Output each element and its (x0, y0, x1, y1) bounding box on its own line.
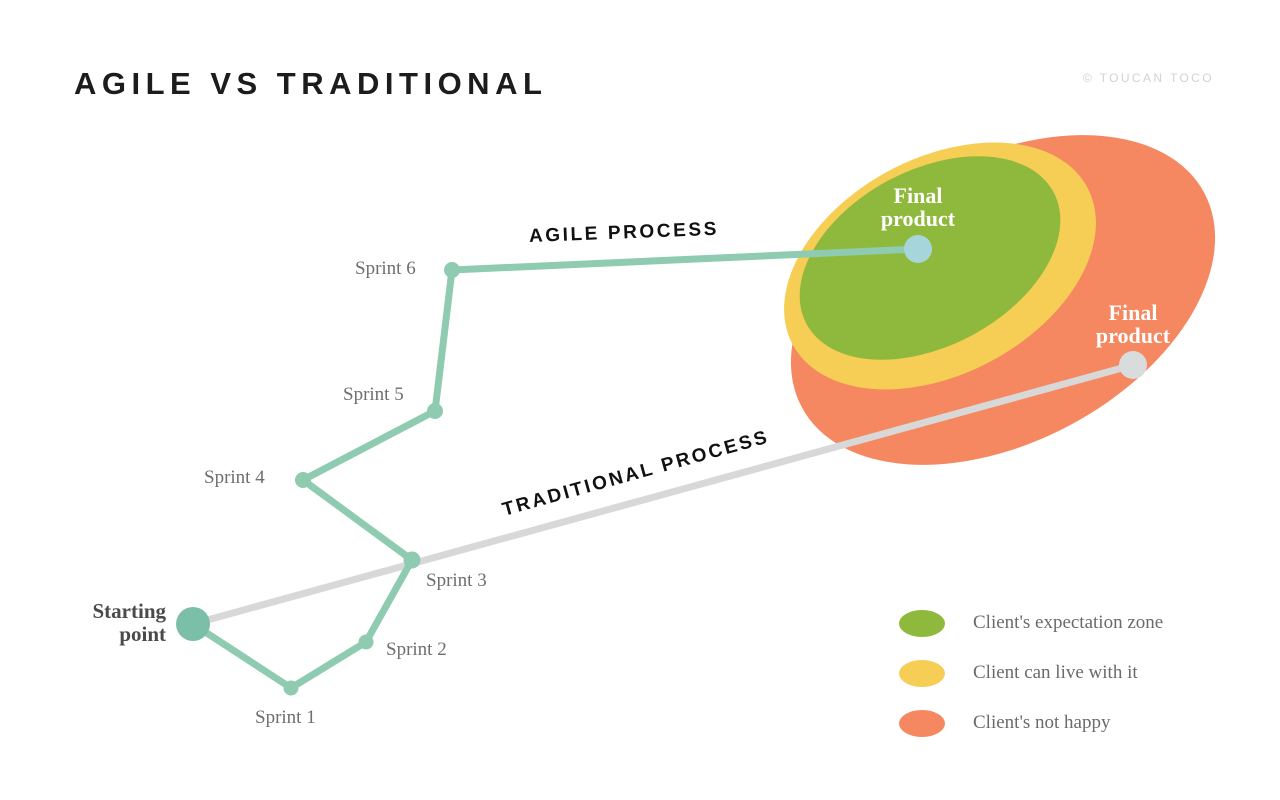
satisfaction-zones (735, 68, 1271, 533)
legend-item-expectation[interactable]: Client's expectation zone (899, 598, 1229, 648)
sprint-label-4: Sprint 4 (204, 467, 265, 489)
agile-final-product-dot[interactable] (904, 235, 932, 263)
traditional-process-line (193, 365, 1133, 624)
sprint-label-3: Sprint 3 (426, 570, 487, 592)
starting-point-label: Starting point (36, 600, 166, 646)
agile-final-product-line1: Final (858, 184, 978, 207)
sprint-label-5: Sprint 5 (343, 384, 404, 406)
legend-label-live-with-it: Client can live with it (973, 662, 1138, 684)
sprint-node-5[interactable] (427, 403, 443, 419)
green-ellipse-swatch-icon (899, 610, 945, 637)
starting-point-dot[interactable] (176, 607, 210, 641)
sprint-node-6[interactable] (444, 262, 460, 278)
legend-item-live-with-it[interactable]: Client can live with it (899, 648, 1229, 698)
traditional-final-product-line2: product (1073, 324, 1193, 347)
sprint-node-2[interactable] (359, 635, 374, 650)
sprint-label-6: Sprint 6 (355, 258, 416, 280)
legend-label-expectation: Client's expectation zone (973, 612, 1163, 634)
sprint-node-4[interactable] (295, 472, 311, 488)
legend-label-not-happy: Client's not happy (973, 712, 1110, 734)
legend: Client's expectation zone Client can liv… (899, 598, 1229, 748)
traditional-final-product-dot[interactable] (1119, 351, 1147, 379)
agile-final-product-label: Final product (858, 184, 978, 230)
infographic-canvas: AGILE VS TRADITIONAL © TOUCAN TOCO (0, 0, 1280, 800)
orange-ellipse-swatch-icon (899, 710, 945, 737)
sprint-node-3[interactable] (404, 552, 421, 569)
starting-point-label-line2: point (36, 623, 166, 646)
sprint-label-2: Sprint 2 (386, 639, 447, 661)
sprint-node-1[interactable] (284, 681, 299, 696)
legend-item-not-happy[interactable]: Client's not happy (899, 698, 1229, 748)
traditional-final-product-label: Final product (1073, 301, 1193, 347)
traditional-final-product-line1: Final (1073, 301, 1193, 324)
starting-point-label-line1: Starting (36, 600, 166, 623)
sprint-label-1: Sprint 1 (255, 707, 316, 729)
agile-final-product-line2: product (858, 207, 978, 230)
yellow-ellipse-swatch-icon (899, 660, 945, 687)
